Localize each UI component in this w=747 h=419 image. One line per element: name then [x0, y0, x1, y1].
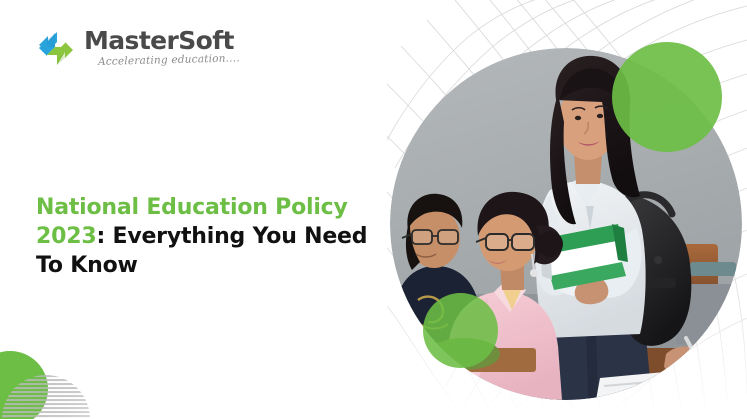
corner-striped-circle — [2, 375, 90, 419]
corner-ornaments — [0, 299, 200, 419]
page-title: National Education Policy 2023: Everythi… — [36, 193, 376, 281]
brand-wordmark: MasterSoft — [84, 28, 234, 53]
mastersoft-pinwheel-logo-icon — [38, 32, 74, 66]
hero-image — [390, 48, 742, 400]
marketing-banner: MasterSoft Accelerating education.... Na… — [0, 0, 747, 419]
brand-logo[interactable]: MasterSoft Accelerating education.... — [38, 28, 240, 68]
brand-tagline: Accelerating education.... — [98, 53, 240, 67]
corner-green-circle — [0, 351, 48, 419]
